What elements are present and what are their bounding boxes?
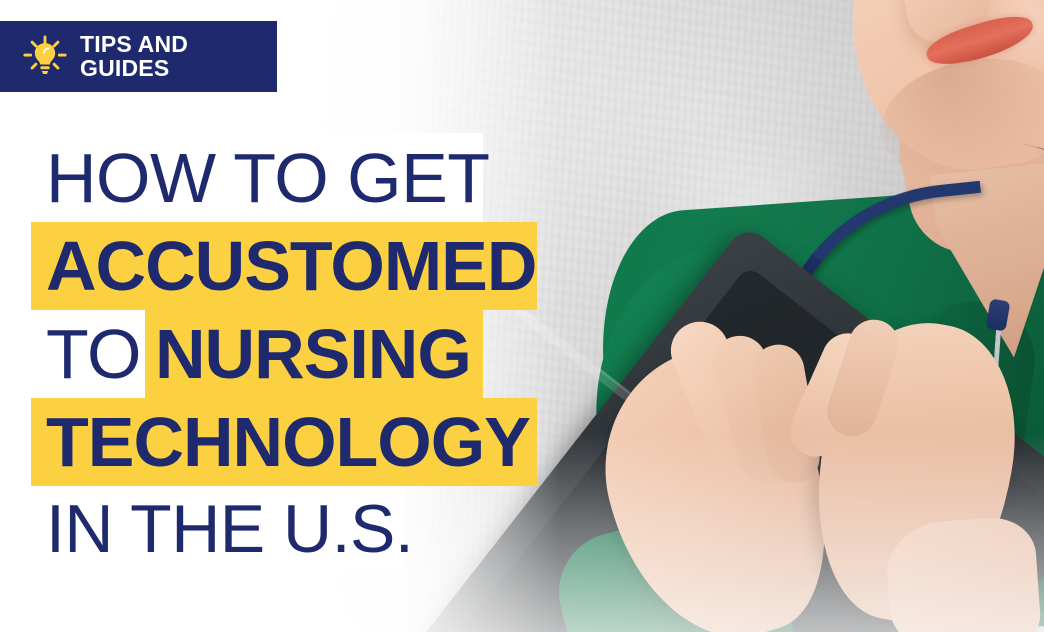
headline-line-5: IN THE U.S. xyxy=(31,486,404,571)
headline-text-technology: TECHNOLOGY xyxy=(31,407,530,477)
banner: TIPS AND GUIDES HOW TO GET ACCUSTOMED TO… xyxy=(0,0,1044,632)
headline-line-1: HOW TO GET xyxy=(0,133,483,222)
headline-text-accustomed: ACCUSTOMED xyxy=(31,231,536,301)
headline-line-4: TECHNOLOGY xyxy=(31,398,537,486)
headline-text-how-to-get: HOW TO GET xyxy=(0,143,490,213)
headline-text-in-the-us: IN THE U.S. xyxy=(31,495,413,563)
badge-line-2: GUIDES xyxy=(80,57,188,80)
badge-line-1: TIPS AND xyxy=(80,31,188,57)
headline-to-block: TO xyxy=(31,310,145,398)
badge-label: TIPS AND GUIDES xyxy=(80,33,188,80)
headline-nursing-block: NURSING xyxy=(145,310,483,398)
lightbulb-icon xyxy=(22,34,68,80)
headline-text-nursing: NURSING xyxy=(155,319,471,389)
tips-and-guides-badge: TIPS AND GUIDES xyxy=(0,21,277,92)
headline-line-2: ACCUSTOMED xyxy=(31,222,537,310)
headline-text-to: TO xyxy=(46,319,141,389)
headline: HOW TO GET ACCUSTOMED TO NURSING TECHNOL… xyxy=(0,0,1044,632)
headline-line-3: TO NURSING xyxy=(31,310,483,398)
